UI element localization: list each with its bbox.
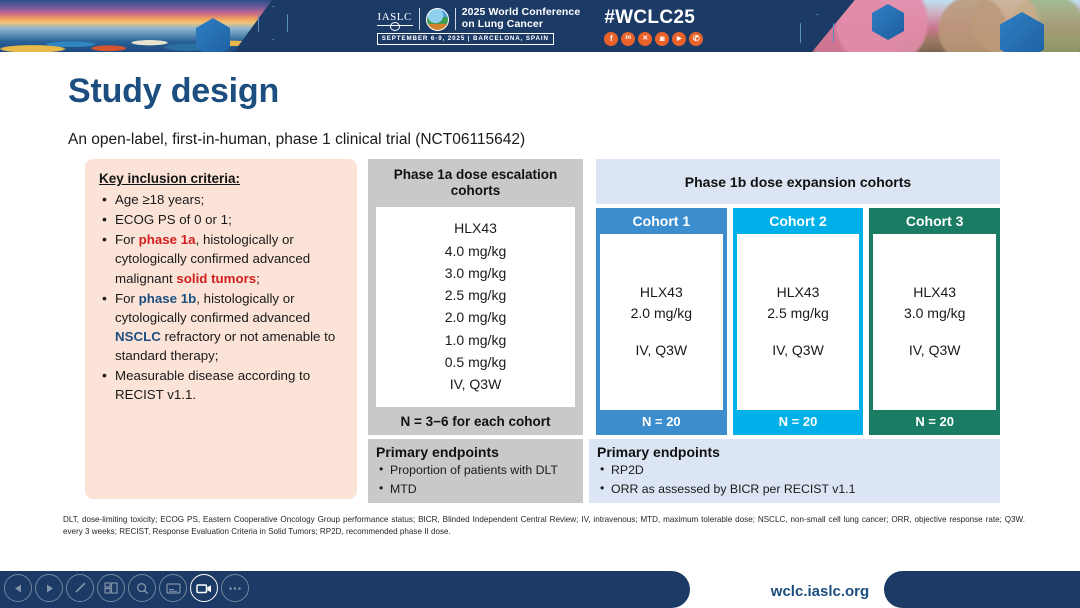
- criteria-text: Age ≥18 years;: [115, 192, 204, 207]
- phase-1a-dose-list: HLX434.0 mg/kg3.0 mg/kg2.5 mg/kg2.0 mg/k…: [376, 207, 575, 407]
- criteria-item: ECOG PS of 0 or 1;: [99, 210, 341, 229]
- iaslc-rule-icon: [377, 25, 413, 26]
- cohort-name: Cohort 2: [733, 208, 864, 234]
- criteria-highlight-blue: NSCLC: [115, 329, 161, 344]
- criteria-text: ECOG PS of 0 or 1;: [115, 212, 232, 227]
- endpoint-item: ORR as assessed by BICR per RECIST v1.1: [597, 480, 992, 499]
- presentation-toolbar[interactable]: [4, 574, 249, 602]
- criteria-highlight-red: solid tumors: [176, 271, 256, 286]
- phase-1a-title: Phase 1a dose escalation cohorts: [376, 167, 575, 200]
- cohort-dose: 2.0 mg/kg: [631, 303, 692, 324]
- conference-url[interactable]: wclc.iaslc.org: [725, 583, 915, 600]
- criteria-heading: Key inclusion criteria:: [99, 171, 341, 186]
- zoom-magnifier-button[interactable]: [128, 574, 156, 602]
- more-options-button[interactable]: [221, 574, 249, 602]
- cohort-drug: HLX43: [777, 282, 820, 303]
- x-twitter-icon[interactable]: ✕: [638, 32, 652, 46]
- cohort-route: IV, Q3W: [772, 342, 824, 358]
- previous-slide-button[interactable]: [4, 574, 32, 602]
- phase-1a-dose-line: 2.5 mg/kg: [445, 285, 506, 306]
- cohort-name: Cohort 1: [596, 208, 727, 234]
- page-title: Study design: [68, 72, 279, 111]
- phase-1b-endpoints-list: RP2DORR as assessed by BICR per RECIST v…: [597, 461, 992, 499]
- camera-video-button[interactable]: [190, 574, 218, 602]
- pen-tool-button[interactable]: [66, 574, 94, 602]
- facebook-icon[interactable]: f: [604, 32, 618, 46]
- all-slides-grid-button[interactable]: [97, 574, 125, 602]
- phase-1a-dose-line: 0.5 mg/kg: [445, 352, 506, 373]
- phase-1a-endpoints-panel: Primary endpoints Proportion of patients…: [368, 439, 583, 503]
- divider: [419, 8, 420, 30]
- phase-1a-sample-size: N = 3−6 for each cohort: [376, 407, 575, 429]
- phase-1a-panel: Phase 1a dose escalation cohorts HLX434.…: [368, 159, 583, 435]
- cohort-drug: HLX43: [913, 282, 956, 303]
- criteria-item: Measurable disease according to RECIST v…: [99, 366, 341, 404]
- social-links[interactable]: f in ✕ ◙ ▶ ✆: [604, 32, 703, 46]
- cohort-route: IV, Q3W: [636, 342, 688, 358]
- cohort-route: IV, Q3W: [909, 342, 961, 358]
- conference-name-line2: on Lung Cancer: [462, 19, 581, 31]
- wechat-icon[interactable]: ✆: [689, 32, 703, 46]
- criteria-text: Measurable disease according to RECIST v…: [115, 368, 310, 402]
- conference-hashtag: #WCLC25: [604, 7, 695, 29]
- instagram-icon[interactable]: ◙: [655, 32, 669, 46]
- cohort-sample-size: N = 20: [596, 410, 727, 435]
- cohort-drug: HLX43: [640, 282, 683, 303]
- criteria-list: Age ≥18 years;ECOG PS of 0 or 1;For phas…: [99, 190, 341, 405]
- endpoint-item: Proportion of patients with DLT: [376, 461, 575, 480]
- cohort-body: HLX432.0 mg/kgIV, Q3W: [600, 234, 723, 410]
- cohort-body: HLX433.0 mg/kgIV, Q3W: [873, 234, 996, 410]
- phase-1a-dose-line: 1.0 mg/kg: [445, 330, 506, 351]
- endpoint-item: MTD: [376, 480, 575, 499]
- phase-1a-endpoints-list: Proportion of patients with DLTMTD: [376, 461, 575, 499]
- key-inclusion-criteria-panel: Key inclusion criteria: Age ≥18 years;EC…: [85, 159, 357, 499]
- iaslc-logo-lockup: IASLC 2025 World Conference on Lung Canc…: [377, 7, 581, 45]
- slide-root: IASLC 2025 World Conference on Lung Canc…: [0, 0, 1080, 608]
- endpoint-item: RP2D: [597, 461, 992, 480]
- cohort-dose: 3.0 mg/kg: [904, 303, 965, 324]
- criteria-highlight-red: phase 1a: [139, 232, 196, 247]
- iaslc-globe-icon: [426, 8, 449, 31]
- divider: [455, 8, 456, 30]
- hashtag-block: #WCLC25 f in ✕ ◙ ▶ ✆: [604, 7, 703, 46]
- conference-banner: IASLC 2025 World Conference on Lung Canc…: [0, 0, 1080, 52]
- phase-1a-dose-line: 2.0 mg/kg: [445, 307, 506, 328]
- phase-1b-cohorts: Cohort 1HLX432.0 mg/kgIV, Q3WN = 20Cohor…: [596, 208, 1000, 435]
- youtube-icon[interactable]: ▶: [672, 32, 686, 46]
- criteria-item: For phase 1b, histologically or cytologi…: [99, 289, 341, 366]
- subtitles-caption-button[interactable]: [159, 574, 187, 602]
- next-slide-button[interactable]: [35, 574, 63, 602]
- phase-1a-dose-line: HLX43: [454, 218, 497, 239]
- phase-1a-dose-line: IV, Q3W: [450, 374, 502, 395]
- phase-1b-endpoints-title: Primary endpoints: [597, 444, 992, 460]
- criteria-text: ;: [256, 271, 260, 286]
- cohort-dose: 2.5 mg/kg: [767, 303, 828, 324]
- phase-1b-endpoints-panel: Primary endpoints RP2DORR as assessed by…: [589, 439, 1000, 503]
- cohort-card: Cohort 1HLX432.0 mg/kgIV, Q3WN = 20: [596, 208, 727, 435]
- conference-name: 2025 World Conference on Lung Cancer: [462, 7, 581, 31]
- linkedin-icon[interactable]: in: [621, 32, 635, 46]
- cohort-name: Cohort 3: [869, 208, 1000, 234]
- criteria-highlight-blue: phase 1b: [139, 291, 197, 306]
- banner-content: IASLC 2025 World Conference on Lung Canc…: [0, 0, 1080, 52]
- phase-1b-title: Phase 1b dose expansion cohorts: [596, 159, 1000, 204]
- cohort-sample-size: N = 20: [869, 410, 1000, 435]
- phase-1a-dose-line: 4.0 mg/kg: [445, 241, 506, 262]
- abbreviations-footnote: DLT, dose-limiting toxicity; ECOG PS, Ea…: [63, 514, 1025, 539]
- criteria-item: For phase 1a, histologically or cytologi…: [99, 230, 341, 287]
- cohort-sample-size: N = 20: [733, 410, 864, 435]
- criteria-text: For: [115, 291, 139, 306]
- iaslc-wordmark: IASLC: [377, 12, 413, 26]
- page-subtitle: An open-label, first-in-human, phase 1 c…: [68, 131, 525, 149]
- cohort-card: Cohort 2HLX432.5 mg/kgIV, Q3WN = 20: [733, 208, 864, 435]
- criteria-text: For: [115, 232, 139, 247]
- phase-1a-endpoints-title: Primary endpoints: [376, 444, 575, 460]
- phase-1a-dose-line: 3.0 mg/kg: [445, 263, 506, 284]
- criteria-item: Age ≥18 years;: [99, 190, 341, 209]
- cohort-body: HLX432.5 mg/kgIV, Q3W: [737, 234, 860, 410]
- slide-footer-bar: wclc.iaslc.org: [0, 563, 1080, 608]
- conference-date-location: SEPTEMBER 6-9, 2025 | BARCELONA, SPAIN: [377, 33, 554, 45]
- cohort-card: Cohort 3HLX433.0 mg/kgIV, Q3WN = 20: [869, 208, 1000, 435]
